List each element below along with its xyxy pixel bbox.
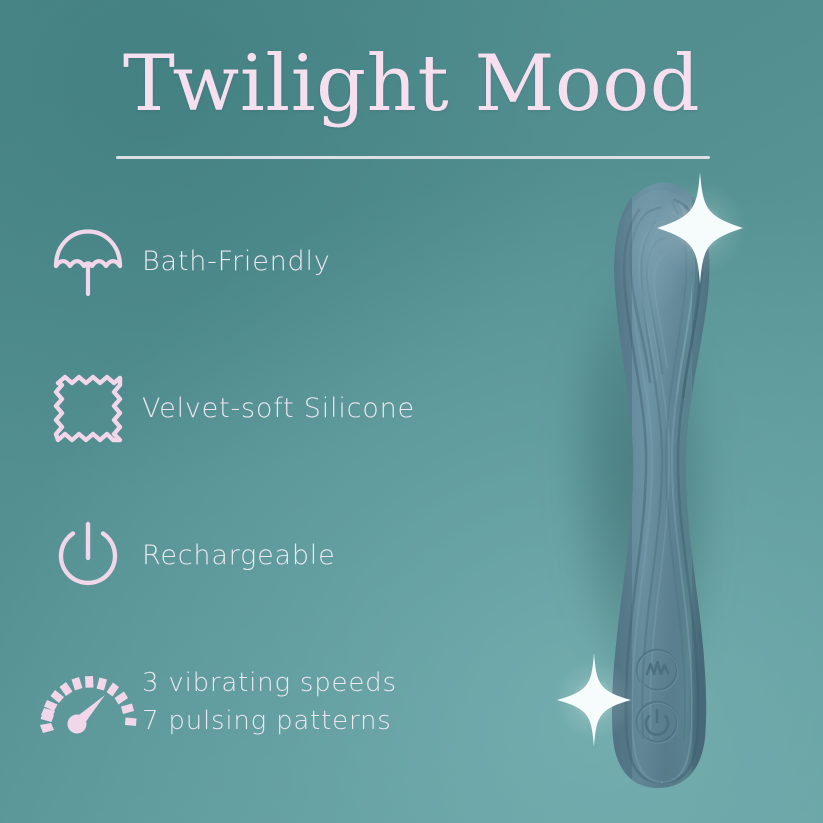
speed-gauge-icon — [38, 657, 138, 749]
fabric-swatch-icon — [38, 363, 138, 455]
feature-label-speeds-patterns: 3 vibrating speeds 7 pulsing patterns — [138, 665, 397, 741]
feature-list: Bath-Friendly Velvet-soft Silicone Recha… — [38, 212, 498, 753]
umbrella-icon — [38, 216, 138, 308]
feature-item-bath-friendly: Bath-Friendly — [38, 212, 498, 312]
feature-label-rechargeable: Rechargeable — [138, 537, 336, 575]
product-illustration — [500, 150, 823, 823]
feature-item-rechargeable: Rechargeable — [38, 506, 498, 606]
product-feature-card: Twilight Mood Bath-Friendly Velvet-soft … — [0, 0, 823, 823]
product-image — [500, 150, 823, 823]
power-icon — [38, 510, 138, 602]
feature-item-velvet-soft-silicone: Velvet-soft Silicone — [38, 359, 498, 459]
feature-item-speeds-patterns: 3 vibrating speeds 7 pulsing patterns — [38, 653, 498, 753]
feature-label-bath-friendly: Bath-Friendly — [138, 243, 331, 281]
page-title: Twilight Mood — [0, 44, 823, 126]
feature-label-velvet-soft-silicone: Velvet-soft Silicone — [138, 390, 415, 428]
